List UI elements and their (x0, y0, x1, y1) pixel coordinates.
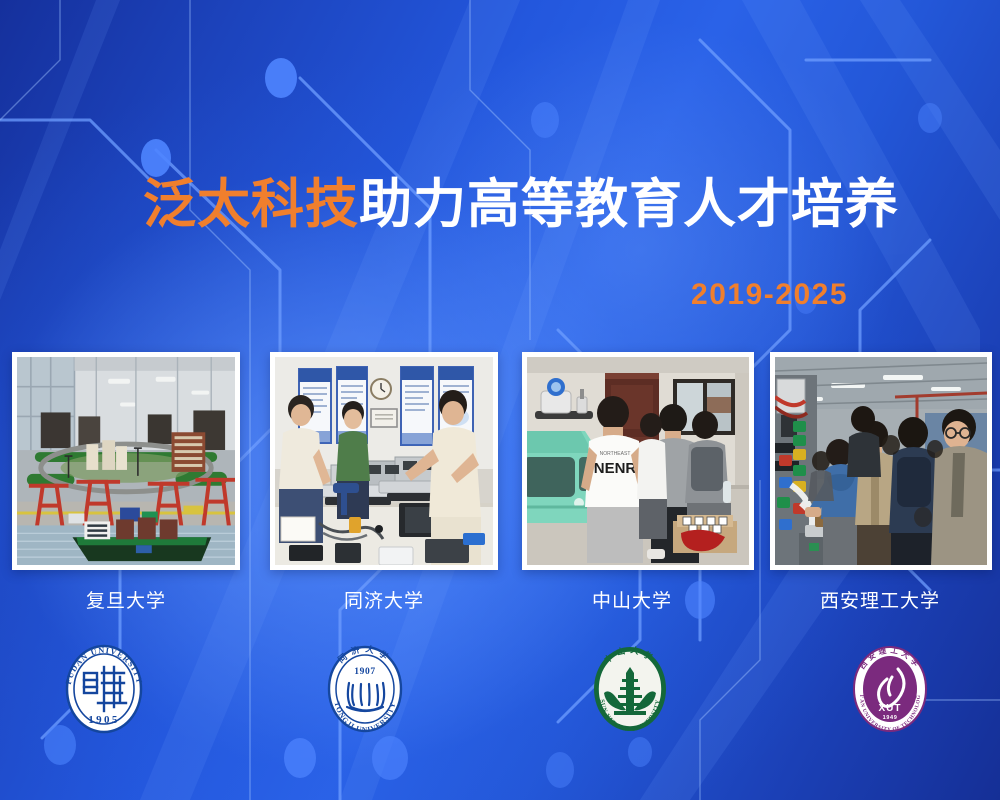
photo-workshop-visit (775, 357, 987, 565)
page-title: 泛太科技助力高等教育人才培养 (0, 174, 1000, 236)
svg-text:NORTHEAST: NORTHEAST (600, 451, 631, 457)
university-label-tongji: 同济大学 (284, 586, 484, 613)
title-block: 泛太科技助力高等教育人才培养 (0, 174, 1000, 236)
university-label-fudan: 复旦大学 (26, 586, 226, 613)
university-label-xut: 西安理工大学 (780, 586, 980, 613)
xut-founding-year: 1949 (883, 715, 898, 721)
xian-university-of-technology-logo: 西安理工大学 XI'AN UNIVERSITY OF TECHNOLOGY XU… (844, 637, 936, 741)
tongji-founding-year: 1907 (354, 667, 375, 677)
fudan-founding-year: 1905 (88, 714, 120, 726)
subtitle-year-range: 2019-2025 (0, 278, 1000, 312)
poster-canvas: 泛太科技助力高等教育人才培养 2019-2025 (0, 0, 1000, 800)
photo-card-row: NENR NORTHEAST (0, 352, 1000, 572)
title-rest: 助力高等教育人才培养 (359, 174, 899, 235)
university-label-sysu: 中山大学 (532, 586, 732, 613)
photo-electronics-lab (275, 357, 493, 565)
photo-card-xut[interactable] (770, 352, 992, 570)
photo-autonomous-vehicle: NENR NORTHEAST (527, 357, 749, 565)
photo-card-sysu[interactable]: NENR NORTHEAST (522, 352, 754, 570)
tongji-university-logo: 同济大学 TONGJI UNIVERSITY 1907 (319, 637, 411, 741)
svg-text:NENR: NENR (594, 460, 637, 477)
xut-abbreviation: XUT (879, 703, 902, 714)
title-brand: 泛太科技 (143, 174, 359, 235)
photo-card-fudan[interactable] (12, 352, 240, 570)
photo-smart-port-model (17, 357, 235, 565)
fudan-university-logo: FUDAN UNIVERSITY 1905 (58, 637, 150, 741)
photo-card-tongji[interactable] (270, 352, 498, 570)
sun-yat-sen-university-logo: 中山大学 SUN YAT-SEN UNIVERSITY (584, 637, 676, 741)
